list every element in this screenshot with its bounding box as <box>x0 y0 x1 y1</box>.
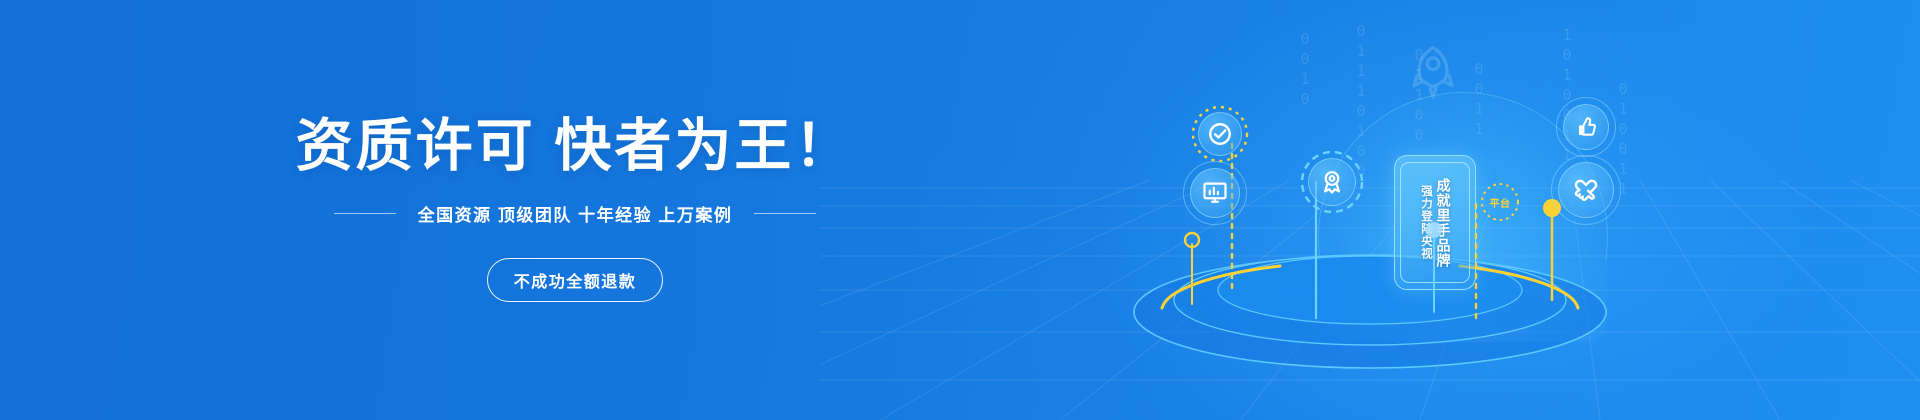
promo-banner: 0010 01110100 01100 1010011 0011 010011 … <box>0 0 1920 420</box>
rule-left <box>334 213 396 214</box>
banner-subtitle: 全国资源 顶级团队 十年经验 上万案例 <box>418 201 733 226</box>
thumbs-up-icon <box>1563 104 1609 150</box>
check-circle-icon <box>1198 112 1242 156</box>
monitor-chart-icon <box>1190 168 1240 218</box>
page-title: 资质许可 快者为王！ <box>296 118 855 175</box>
platform-badge: 平台 <box>1480 182 1520 222</box>
binary-text: 0010 <box>1296 30 1314 110</box>
rule-right <box>754 213 816 214</box>
banner-copy: 资质许可 快者为王！ 全国资源 顶级团队 十年经验 上万案例 不成功全额退款 <box>0 0 1150 420</box>
award-medal-icon <box>1308 158 1356 206</box>
handshake-heart-icon <box>1558 162 1614 218</box>
refund-guarantee-button[interactable]: 不成功全额退款 <box>487 258 664 302</box>
subtitle-row: 全国资源 顶级团队 十年经验 上万案例 <box>334 201 817 226</box>
